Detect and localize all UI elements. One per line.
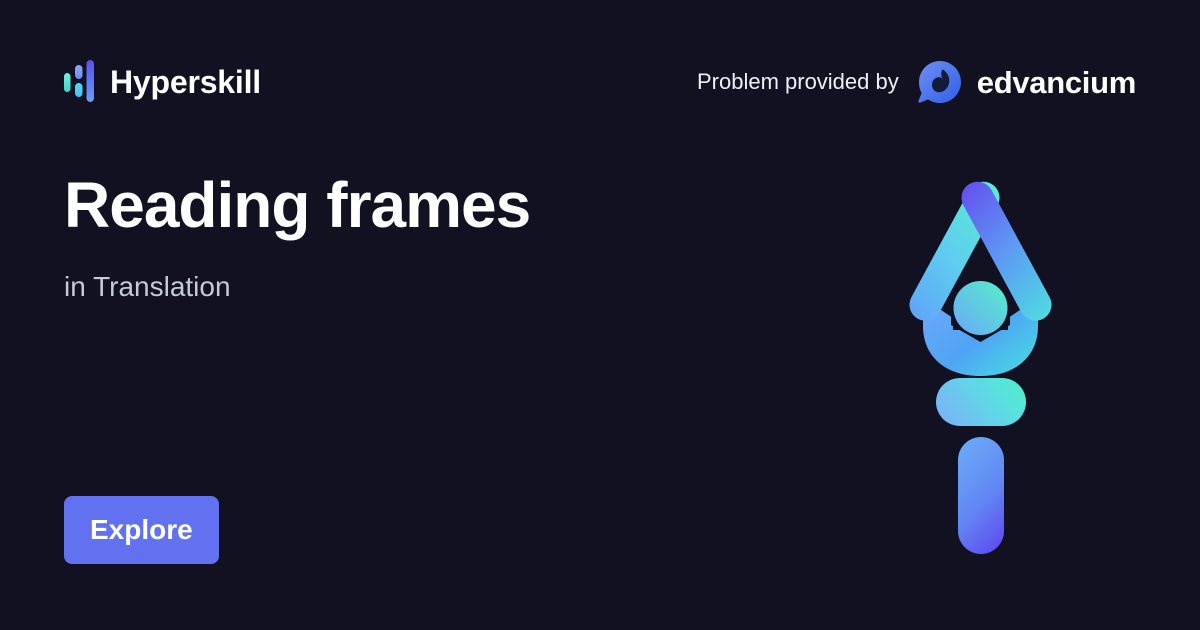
page-title: Reading frames <box>64 170 864 242</box>
hero-horizontal-pill <box>936 378 1026 426</box>
hyperskill-brand[interactable]: Hyperskill <box>64 60 261 104</box>
problem-provider: Problem provided by edvancium <box>697 59 1136 105</box>
hyperskill-brand-name: Hyperskill <box>110 66 261 98</box>
page-subtitle: in Translation <box>64 270 864 304</box>
hero-triangle-mark <box>910 182 1052 376</box>
hero-vertical-pill <box>958 437 1004 554</box>
hyperskill-bars-icon <box>64 60 94 104</box>
main-content: Reading frames in Translation <box>64 170 864 303</box>
explore-button[interactable]: Explore <box>64 496 219 564</box>
edvancium-brand-name: edvancium <box>977 67 1136 98</box>
edvancium-brand[interactable]: edvancium <box>917 59 1136 105</box>
hero-illustration <box>893 178 1068 558</box>
header: Hyperskill Problem provided by <box>0 0 1200 164</box>
hero-center-circle <box>954 281 1008 335</box>
provider-label: Problem provided by <box>697 71 899 93</box>
og-card: Hyperskill Problem provided by <box>0 0 1200 630</box>
edvancium-pin-icon <box>917 59 963 105</box>
